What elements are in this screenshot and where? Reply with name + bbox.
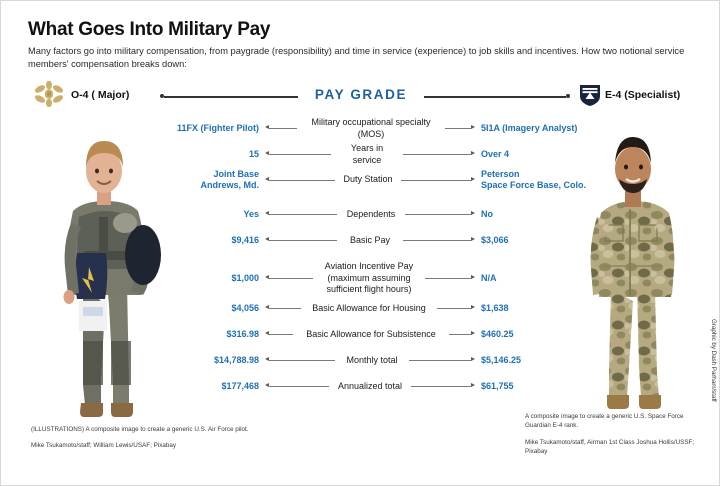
connector-left [265, 330, 297, 340]
grade-dot-left [160, 94, 164, 98]
connector-right [399, 236, 475, 246]
page-deck: Many factors go into military compensati… [28, 45, 693, 70]
comparison-row: YesDependentsNo [141, 209, 601, 221]
connector-right [445, 330, 475, 340]
row-value-left: $1,000 [141, 273, 265, 284]
row-label: Basic Allowance for Subsistence [297, 329, 445, 341]
pay-grade-label: PAY GRADE [305, 87, 417, 102]
infographic-frame: What Goes Into Military Pay Many factors… [0, 0, 720, 486]
row-value-left: $177,468 [141, 381, 265, 392]
credit-left-sources: Mike Tsukamoto/staff; William Lewis/USAF… [31, 441, 261, 450]
row-value-right: No [475, 209, 601, 220]
row-label: Dependents [341, 209, 401, 221]
row-value-right: $3,066 [475, 235, 601, 246]
row-value-right: PetersonSpace Force Base, Colo. [475, 169, 601, 192]
comparison-row: $1,000Aviation Incentive Pay(maximum ass… [141, 261, 601, 296]
row-label: Duty Station [339, 174, 397, 186]
comparison-row: 11FX (Fighter Pilot)Military occupationa… [141, 117, 601, 140]
connector-left [265, 175, 339, 185]
row-value-left: 11FX (Fighter Pilot) [141, 123, 265, 134]
connector-right [401, 210, 475, 220]
connector-right [407, 382, 475, 392]
connector-left [265, 274, 317, 284]
credit-left-caption: (ILLUSTRATIONS) A composite image to cre… [31, 425, 261, 434]
grade-line-left [164, 96, 298, 98]
row-value-left: $14,788.98 [141, 355, 265, 366]
connector-right [397, 175, 475, 185]
row-value-right: $460.25 [475, 329, 601, 340]
grade-dot-right [566, 94, 570, 98]
row-value-right: N/A [475, 273, 601, 284]
row-value-left: Yes [141, 209, 265, 220]
credit-right-sources: Mike Tsukamoto/staff, Airman 1st Class J… [525, 438, 705, 457]
comparison-row: $4,056Basic Allowance for Housing$1,638 [141, 303, 601, 315]
rank-label-right: E-4 (Specialist) [605, 89, 680, 101]
credit-right: A composite image to create a generic U.… [525, 412, 705, 457]
row-value-right: 5I1A (Imagery Analyst) [475, 123, 601, 134]
row-value-right: $61,755 [475, 381, 601, 392]
grade-line-right [424, 96, 566, 98]
row-value-right: Over 4 [475, 149, 601, 160]
connector-right [405, 356, 475, 366]
row-label: Aviation Incentive Pay(maximum assumings… [317, 261, 421, 296]
row-label: Military occupational specialty (MOS) [301, 117, 441, 140]
row-value-left: $9,416 [141, 235, 265, 246]
graphic-credit-vertical: Graphic by Dash Parham/staff [710, 319, 717, 402]
row-value-left: 15 [141, 149, 265, 160]
comparison-row: $177,468Annualized total$61,755 [141, 381, 601, 393]
connector-left [265, 210, 341, 220]
connector-left [265, 124, 301, 134]
credit-right-caption: A composite image to create a generic U.… [525, 412, 705, 431]
connector-left [265, 382, 333, 392]
credit-left: (ILLUSTRATIONS) A composite image to cre… [31, 425, 261, 451]
row-label: Annualized total [333, 381, 407, 393]
rank-label-left: O-4 ( Major) [71, 89, 129, 101]
row-label: Basic Pay [341, 235, 399, 247]
row-value-left: $4,056 [141, 303, 265, 314]
row-label: Monthly total [339, 355, 405, 367]
comparison-row: $9,416Basic Pay$3,066 [141, 235, 601, 247]
connector-right [433, 304, 475, 314]
row-value-right: $5,146.25 [475, 355, 601, 366]
page-title: What Goes Into Military Pay [28, 19, 270, 41]
comparison-row: $316.98Basic Allowance for Subsistence$4… [141, 329, 601, 341]
comparison-row: 15Years in serviceOver 4 [141, 143, 601, 166]
row-value-right: $1,638 [475, 303, 601, 314]
row-value-left: $316.98 [141, 329, 265, 340]
connector-left [265, 236, 341, 246]
connector-right [421, 274, 475, 284]
row-label: Basic Allowance for Housing [305, 303, 433, 315]
connector-right [441, 124, 475, 134]
connector-left [265, 150, 335, 160]
connector-right [399, 150, 475, 160]
connector-left [265, 304, 305, 314]
row-label: Years in service [335, 143, 399, 166]
comparison-row: $14,788.98Monthly total$5,146.25 [141, 355, 601, 367]
row-value-left: Joint BaseAndrews, Md. [141, 169, 265, 192]
comparison-row: Joint BaseAndrews, Md.Duty StationPeters… [141, 169, 601, 192]
connector-left [265, 356, 339, 366]
